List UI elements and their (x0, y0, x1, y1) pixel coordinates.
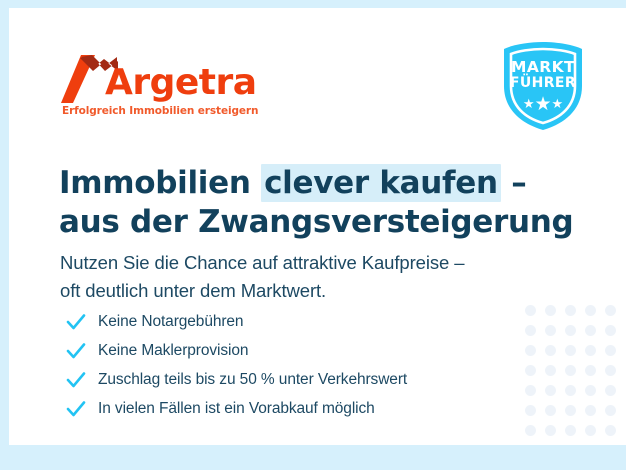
banner-card: Argetra Erfolgreich Immobilien ersteiger… (9, 8, 626, 445)
dot (585, 405, 596, 416)
list-item: Zuschlag teils bis zu 50 % unter Verkehr… (65, 365, 407, 394)
headline-line-1: Immobilien clever kaufen – (59, 164, 526, 202)
dot (545, 385, 556, 396)
headline-text-after: – (501, 165, 527, 201)
dot (545, 345, 556, 356)
dot (525, 425, 536, 436)
dot (565, 405, 576, 416)
dot (605, 325, 616, 336)
list-item: Keine Maklerprovision (65, 336, 407, 365)
dot (605, 405, 616, 416)
dot (605, 305, 616, 316)
check-icon (65, 369, 87, 391)
dot (545, 405, 556, 416)
dot (525, 345, 536, 356)
dot (605, 425, 616, 436)
dot (545, 425, 556, 436)
subheading-line-2: oft deutlich unter dem Marktwert. (60, 280, 326, 301)
list-item-label: Keine Maklerprovision (98, 342, 248, 360)
headline-line-2: aus der Zwangsversteigerung (59, 204, 573, 240)
dot (565, 345, 576, 356)
logo-tagline: Erfolgreich Immobilien ersteigern (62, 105, 258, 117)
subheading-line-1: Nutzen Sie die Chance auf attraktive Kau… (60, 252, 464, 273)
dot (565, 325, 576, 336)
shield-icon (498, 40, 588, 132)
argetra-logo: Argetra Erfolgreich Immobilien ersteiger… (61, 53, 261, 123)
dot (585, 345, 596, 356)
list-item-label: Keine Notargebühren (98, 313, 243, 331)
dot (585, 425, 596, 436)
dot-grid-decoration (525, 305, 625, 445)
dot (525, 325, 536, 336)
dot (565, 305, 576, 316)
check-icon (65, 340, 87, 362)
list-item: In vielen Fällen ist ein Vorabkauf mögli… (65, 394, 407, 423)
headline-highlight: clever kaufen (261, 164, 501, 202)
benefits-list: Keine Notargebühren Keine Maklerprovisio… (65, 307, 407, 423)
dot (525, 405, 536, 416)
list-item-label: In vielen Fällen ist ein Vorabkauf mögli… (98, 400, 375, 418)
dot (605, 365, 616, 376)
list-item-label: Zuschlag teils bis zu 50 % unter Verkehr… (98, 371, 407, 389)
list-item: Keine Notargebühren (65, 307, 407, 336)
market-leader-badge: MARKT FÜHRER ★★★ (498, 40, 588, 132)
check-icon (65, 398, 87, 420)
dot (585, 325, 596, 336)
dot (545, 305, 556, 316)
subheading: Nutzen Sie die Chance auf attraktive Kau… (60, 249, 464, 306)
dot (525, 365, 536, 376)
dot (545, 365, 556, 376)
dot (565, 385, 576, 396)
dot (585, 305, 596, 316)
dot (585, 365, 596, 376)
dot (525, 305, 536, 316)
dot (545, 325, 556, 336)
dot (565, 365, 576, 376)
logo-wordmark: Argetra (105, 65, 257, 101)
promo-banner: Argetra Erfolgreich Immobilien ersteiger… (0, 0, 626, 470)
check-icon (65, 311, 87, 333)
dot (565, 425, 576, 436)
dot (605, 345, 616, 356)
dot (525, 385, 536, 396)
dot (605, 385, 616, 396)
dot (585, 385, 596, 396)
headline: Immobilien clever kaufen – aus der Zwang… (59, 164, 573, 243)
headline-text-before: Immobilien (59, 165, 261, 201)
